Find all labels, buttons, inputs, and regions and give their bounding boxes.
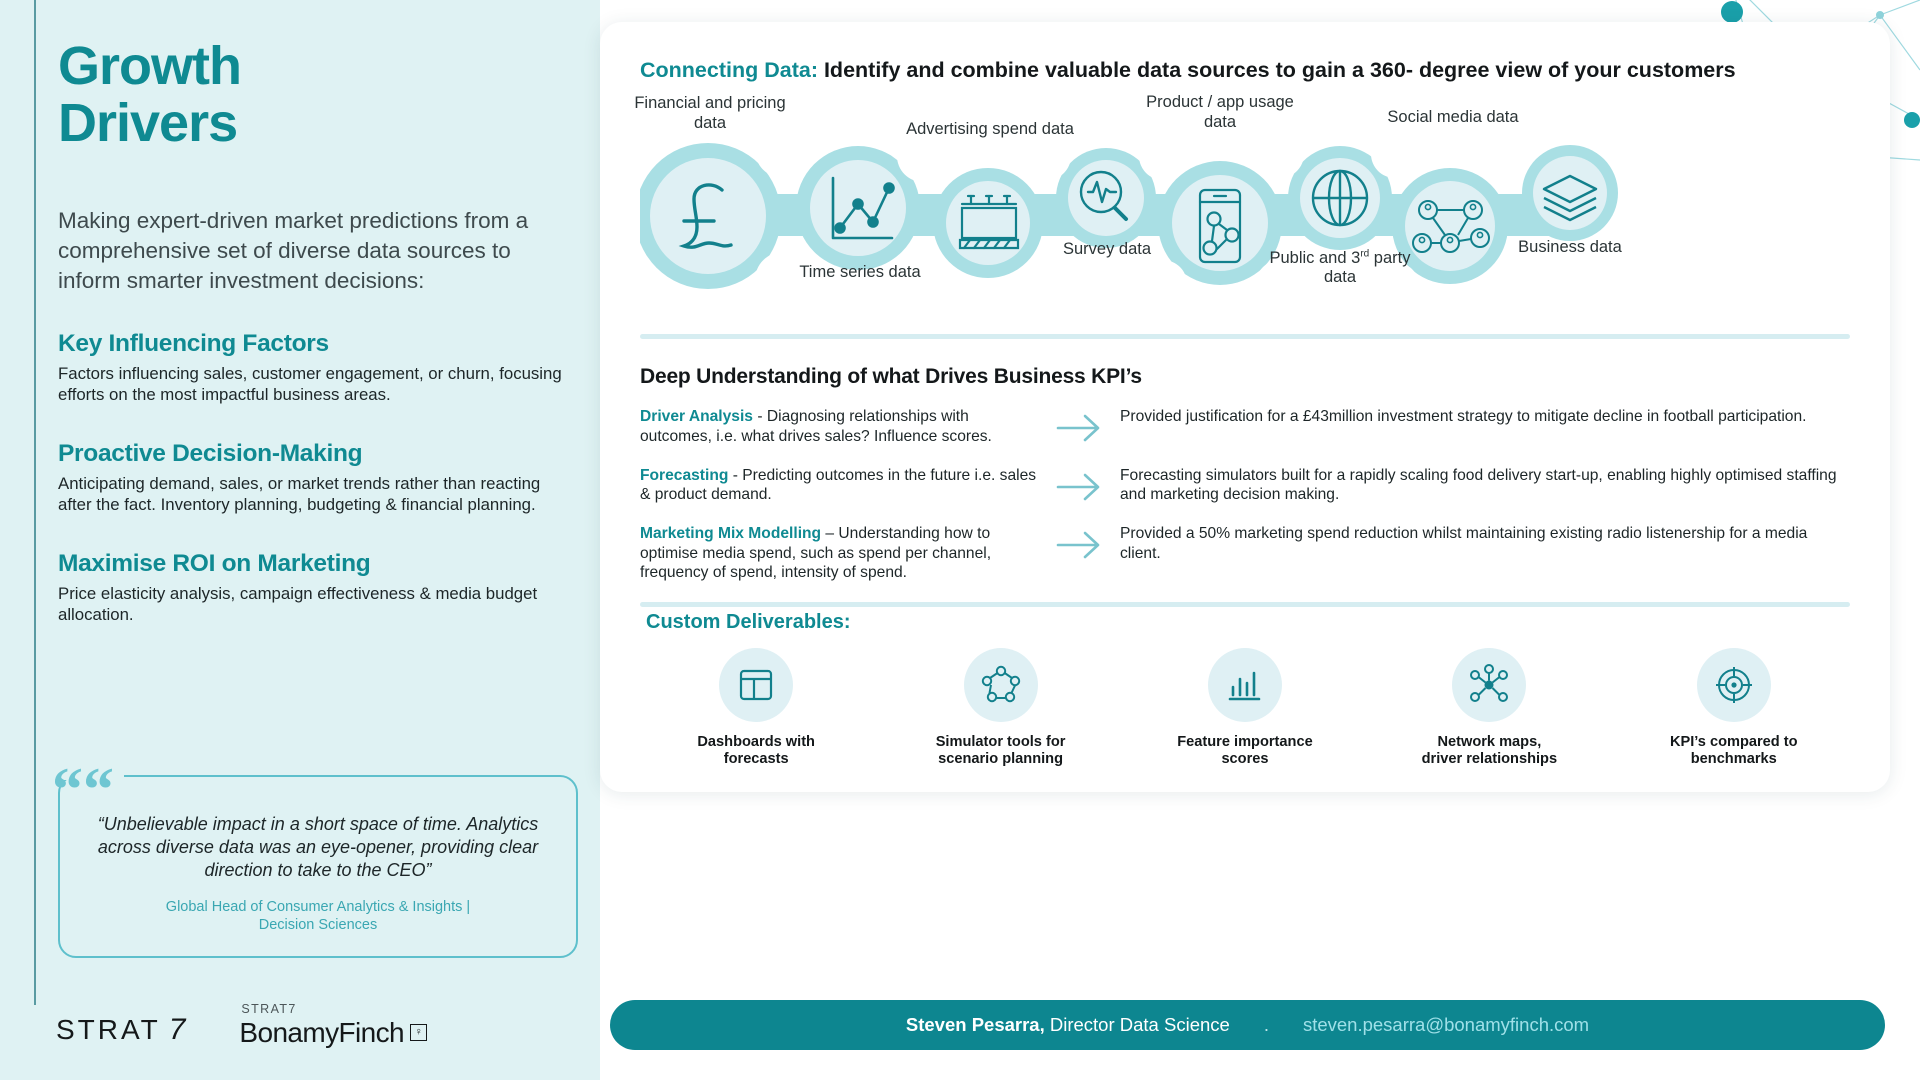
deliverable-label: Dashboards with forecasts <box>656 734 856 769</box>
deliverable-dashboards: Dashboards with forecasts <box>656 648 856 769</box>
kpi-term: Marketing Mix Modelling <box>640 525 821 542</box>
deliverables-title: Custom Deliverables: <box>646 611 1890 634</box>
flow-label-product-app-usage: Product / app usage data <box>1135 93 1305 132</box>
data-sources-flow-diagram: Financial and pricing data Time series d… <box>640 98 1850 328</box>
footer-email[interactable]: steven.pesarra@bonamyfinch.com <box>1303 1014 1589 1036</box>
section-heading: Proactive Decision-Making <box>58 440 578 468</box>
circular-nodes-icon <box>964 648 1038 722</box>
deliverable-label-line1: Dashboards with <box>656 734 856 752</box>
quote-attribution-line2: Decision Sciences <box>82 916 554 934</box>
bonamyfinch-mark-icon: ♀ <box>410 1024 427 1041</box>
globe-icon <box>1313 171 1367 225</box>
flow-label-public-3rd-party-text: Public and 3rd party data <box>1269 249 1410 286</box>
deliverable-kpi-benchmarks: KPI’s compared to benchmarks <box>1634 648 1834 769</box>
section-body: Price elasticity analysis, campaign effe… <box>58 583 578 626</box>
deliverable-label-line2: scenario planning <box>901 751 1101 769</box>
main-content-card: Connecting Data: Identify and combine va… <box>600 22 1890 792</box>
deliverable-label: KPI’s compared to benchmarks <box>1634 734 1834 769</box>
footer-role: Director Data Science <box>1045 1014 1230 1035</box>
section-heading: Maximise ROI on Marketing <box>58 550 578 578</box>
quote-attribution: Global Head of Consumer Analytics & Insi… <box>82 898 554 934</box>
network-hub-icon <box>1452 648 1526 722</box>
kpi-term: Forecasting <box>640 467 728 484</box>
section-body: Anticipating demand, sales, or market tr… <box>58 473 578 516</box>
kpi-section-title: Deep Understanding of what Drives Busine… <box>640 365 1890 389</box>
bonamyfinch-logo-main: BonamyFinch ♀ <box>239 1019 427 1047</box>
kpi-outcome: Provided a 50% marketing spend reduction… <box>1120 524 1850 563</box>
quote-text: “Unbelievable impact in a short space of… <box>82 813 554 882</box>
section-heading: Key Influencing Factors <box>58 330 578 358</box>
footer-separator: . <box>1264 1014 1269 1036</box>
kpi-left: Marketing Mix Modelling – Understanding … <box>640 524 1040 583</box>
quote-mark-icon: ““ <box>52 759 114 821</box>
deliverables-row: Dashboards with forecasts Simulator tool… <box>634 648 1856 769</box>
bar-chart-icon <box>1208 648 1282 722</box>
deliverable-label-line2: scores <box>1145 751 1345 769</box>
bonamyfinch-logo-text: BonamyFinch <box>239 1019 404 1047</box>
kpi-row-forecasting: Forecasting - Predicting outcomes in the… <box>640 466 1850 505</box>
kpi-outcome: Provided justification for a £43million … <box>1120 407 1850 427</box>
flow-label-social-media: Social media data <box>1368 108 1538 127</box>
deliverable-network-maps: Network maps, driver relationships <box>1389 648 1589 769</box>
footer-person: Steven Pesarra, Director Data Science <box>906 1014 1230 1036</box>
strat7-logo-text: STRAT <box>56 1014 161 1046</box>
slide-page: Growth Drivers Making expert-driven mark… <box>0 0 1920 1080</box>
kpi-term: Driver Analysis <box>640 408 753 425</box>
section-maximise-roi-on-marketing: Maximise ROI on Marketing Price elastici… <box>58 550 578 626</box>
deliverable-simulator-tools: Simulator tools for scenario planning <box>901 648 1101 769</box>
kpi-outcome: Forecasting simulators built for a rapid… <box>1120 466 1850 505</box>
footer-contact-bar: Steven Pesarra, Director Data Science . … <box>610 1000 1885 1050</box>
arrow-right-icon <box>1040 407 1120 443</box>
deliverable-label-line1: Network maps, <box>1389 734 1589 752</box>
connecting-data-header: Connecting Data: Identify and combine va… <box>640 56 1850 84</box>
testimonial-quote: “Unbelievable impact in a short space of… <box>58 775 578 958</box>
flow-label-business-data: Business data <box>1485 238 1655 257</box>
section-body: Factors influencing sales, customer enga… <box>58 363 578 406</box>
page-title-line1: Growth <box>58 38 578 95</box>
page-title-line2: Drivers <box>58 95 578 152</box>
target-icon <box>1697 648 1771 722</box>
kpi-row-driver-analysis: Driver Analysis - Diagnosing relationshi… <box>640 407 1850 446</box>
dashboard-layout-icon <box>719 648 793 722</box>
connecting-data-label: Connecting Data: <box>640 58 818 82</box>
page-title: Growth Drivers <box>58 38 578 152</box>
logo-row: STRAT 7 STRAT7 BonamyFinch ♀ <box>56 1003 427 1047</box>
intro-paragraph: Making expert-driven market predictions … <box>58 206 578 295</box>
flow-label-survey: Survey data <box>1022 240 1192 259</box>
deliverable-label: Simulator tools for scenario planning <box>901 734 1101 769</box>
footer-name: Steven Pesarra, <box>906 1014 1045 1035</box>
flow-label-public-3rd-party: Public and 3rd party data <box>1255 248 1425 287</box>
section-key-influencing-factors: Key Influencing Factors Factors influenc… <box>58 330 578 406</box>
left-panel: Growth Drivers Making expert-driven mark… <box>0 0 600 1080</box>
kpi-left: Driver Analysis - Diagnosing relationshi… <box>640 407 1040 446</box>
strat7-logo: STRAT 7 <box>56 1013 185 1047</box>
strat7-logo-seven: 7 <box>169 1013 186 1047</box>
deliverable-label-line2: benchmarks <box>1634 751 1834 769</box>
deliverable-label-line2: forecasts <box>656 751 856 769</box>
bonamyfinch-logo-eyebrow: STRAT7 <box>241 1003 427 1016</box>
deliverable-label: Feature importance scores <box>1145 734 1345 769</box>
deliverable-label-line1: KPI’s compared to <box>1634 734 1834 752</box>
section-proactive-decision-making: Proactive Decision-Making Anticipating d… <box>58 440 578 516</box>
deliverable-label-line1: Feature importance <box>1145 734 1345 752</box>
flow-label-advertising-spend: Advertising spend data <box>905 120 1075 139</box>
left-vertical-rule <box>34 0 36 1005</box>
quote-box: “Unbelievable impact in a short space of… <box>58 775 578 958</box>
arrow-right-icon <box>1040 524 1120 560</box>
kpi-row-marketing-mix-modelling: Marketing Mix Modelling – Understanding … <box>640 524 1850 583</box>
kpi-rows: Driver Analysis - Diagnosing relationshi… <box>640 407 1850 582</box>
section-divider-bottom <box>640 602 1850 607</box>
kpi-left: Forecasting - Predicting outcomes in the… <box>640 466 1040 505</box>
deliverable-feature-importance: Feature importance scores <box>1145 648 1345 769</box>
quote-attribution-line1: Global Head of Consumer Analytics & Insi… <box>82 898 554 916</box>
flow-label-time-series: Time series data <box>775 263 945 282</box>
section-divider-top <box>640 334 1850 339</box>
connecting-data-text: Identify and combine valuable data sourc… <box>818 58 1736 82</box>
deliverable-label: Network maps, driver relationships <box>1389 734 1589 769</box>
deliverable-label-line2: driver relationships <box>1389 751 1589 769</box>
flow-label-financial-pricing: Financial and pricing data <box>625 94 795 133</box>
arrow-right-icon <box>1040 466 1120 502</box>
deliverable-label-line1: Simulator tools for <box>901 734 1101 752</box>
bonamyfinch-logo: STRAT7 BonamyFinch ♀ <box>239 1003 427 1047</box>
